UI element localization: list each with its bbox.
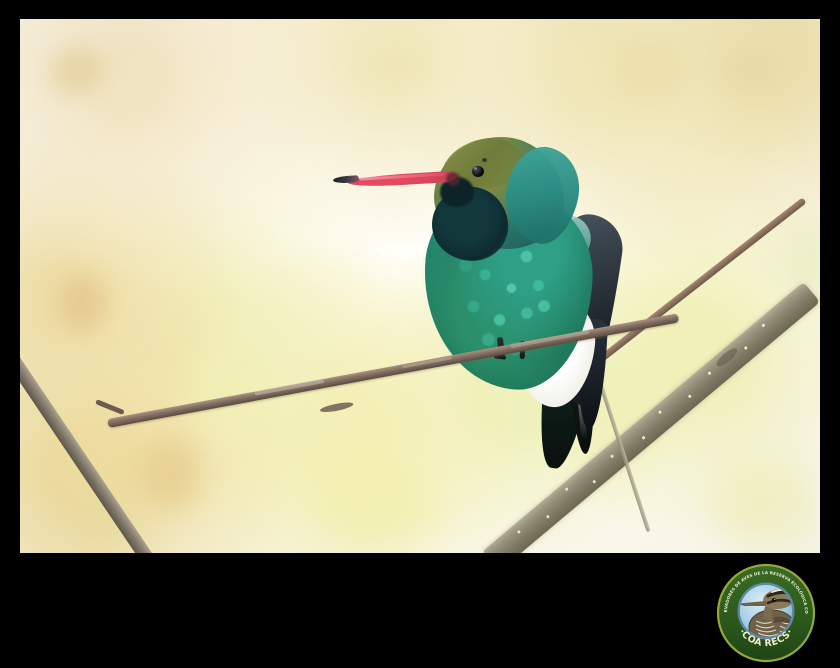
- bird-eye-spot-upper: [482, 158, 487, 162]
- photograph: [20, 19, 820, 553]
- bird-bill-base-shadow: [444, 171, 462, 187]
- bird-eye-catchlight: [474, 167, 477, 170]
- coa-recs-logo[interactable]: CLUB DE OBSERVADORES DE AVES DE LA RESER…: [716, 563, 816, 663]
- hummingbird: [20, 19, 820, 553]
- caption-bar: Especie: Picaflor común — Chlorostilbon …: [0, 553, 840, 668]
- coa-recs-logo-svg: CLUB DE OBSERVADORES DE AVES DE LA RESER…: [716, 563, 816, 663]
- photo-card: Especie: Picaflor común — Chlorostilbon …: [0, 0, 840, 668]
